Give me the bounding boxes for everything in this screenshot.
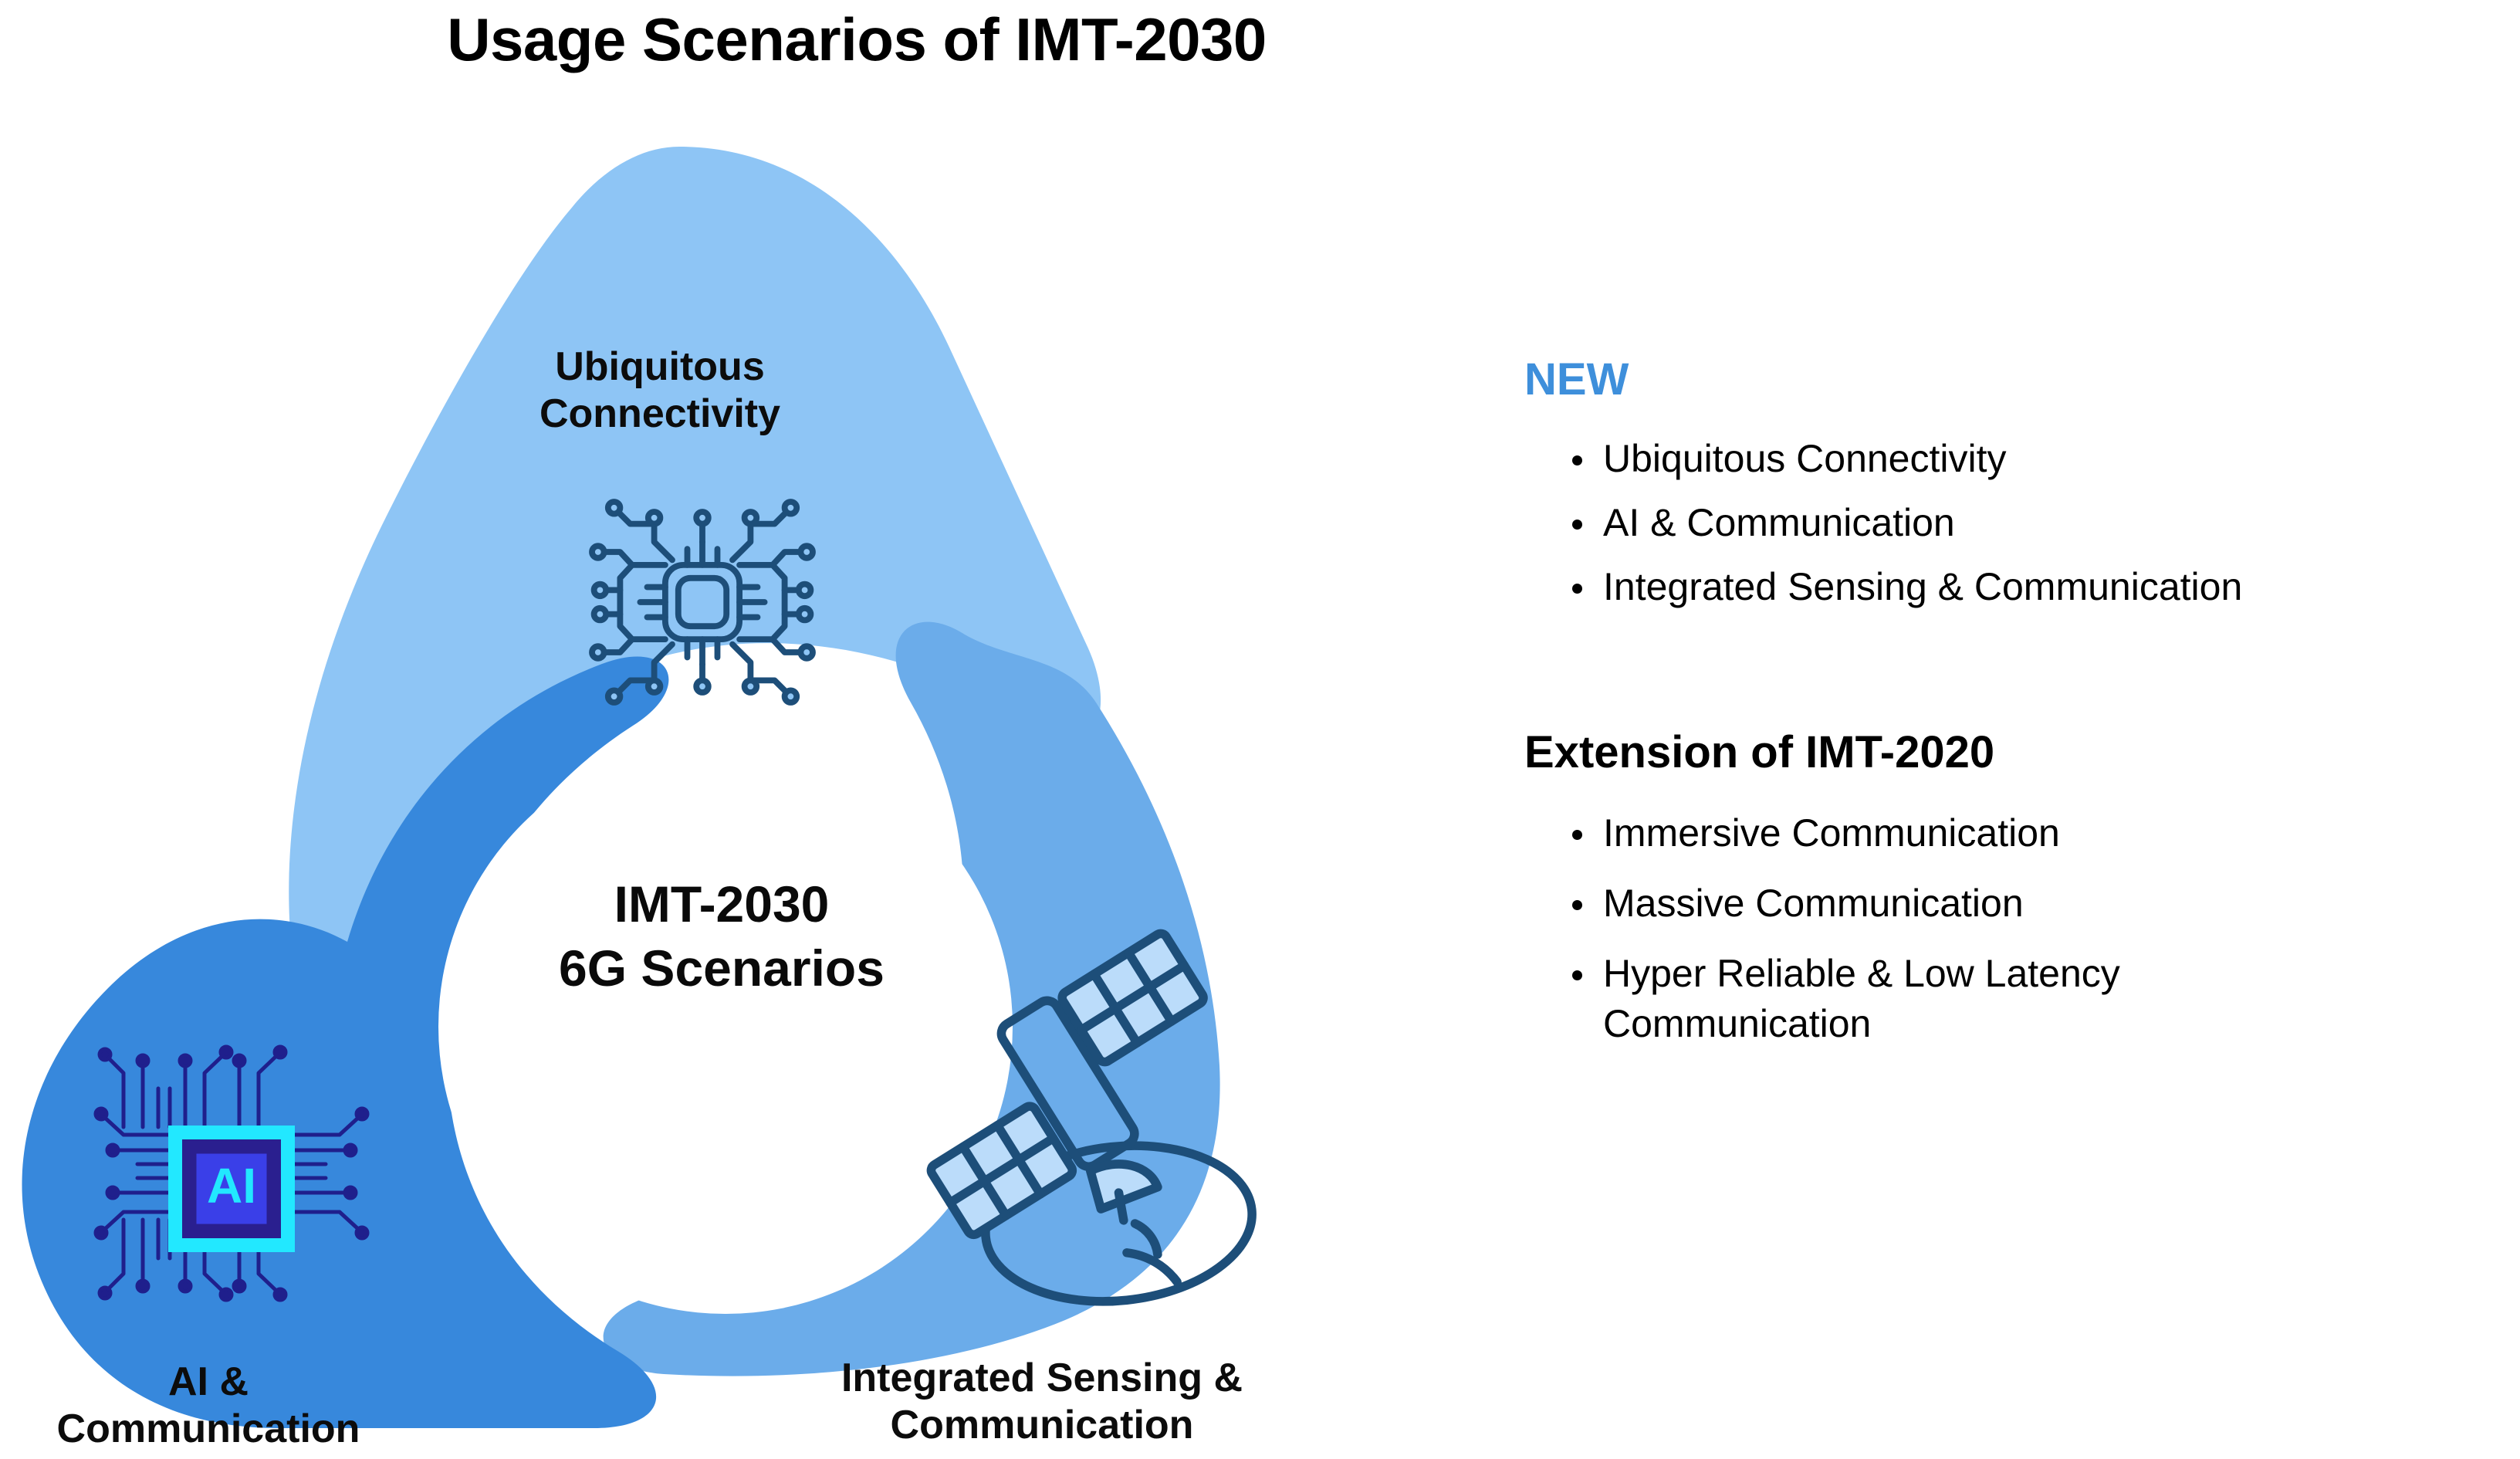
list-item: Integrated Sensing & Communication <box>1568 562 2512 612</box>
center-disc <box>438 740 1013 1314</box>
list-item: Immersive Communication <box>1568 808 2512 858</box>
lobe-label-integrated-sensing-communication: Integrated Sensing & Communication <box>772 1355 1312 1450</box>
imt2030-pinwheel-diagram: AI <box>0 116 1436 1459</box>
extension-section-heading: Extension of IMT-2020 <box>1524 728 2512 777</box>
new-scenarios-list: Ubiquitous Connectivity AI & Communicati… <box>1524 434 2512 612</box>
extension-scenarios-list: Immersive Communication Massive Communic… <box>1524 808 2512 1049</box>
list-item: Ubiquitous Connectivity <box>1568 434 2512 484</box>
list-item: Hyper Reliable & Low Latency Communicati… <box>1568 949 2512 1049</box>
pinwheel-svg: AI <box>0 116 1436 1459</box>
list-item: AI & Communication <box>1568 498 2512 548</box>
new-section-heading: NEW <box>1524 355 2512 405</box>
list-item: Massive Communication <box>1568 878 2512 929</box>
page-title: Usage Scenarios of IMT-2030 <box>0 5 1713 75</box>
lobe-label-ai-communication: AI & Communication <box>0 1359 417 1454</box>
new-scenarios-block: NEW Ubiquitous Connectivity AI & Communi… <box>1524 355 2512 612</box>
center-label-imt2030-6g-scenarios: IMT-2030 6G Scenarios <box>417 872 1027 1000</box>
lobe-label-ubiquitous-connectivity: Ubiquitous Connectivity <box>455 344 864 438</box>
ai-chip-label: AI <box>207 1158 256 1214</box>
scenarios-side-panel: NEW Ubiquitous Connectivity AI & Communi… <box>1524 355 2512 1069</box>
extension-scenarios-block: Extension of IMT-2020 Immersive Communic… <box>1524 728 2512 1049</box>
